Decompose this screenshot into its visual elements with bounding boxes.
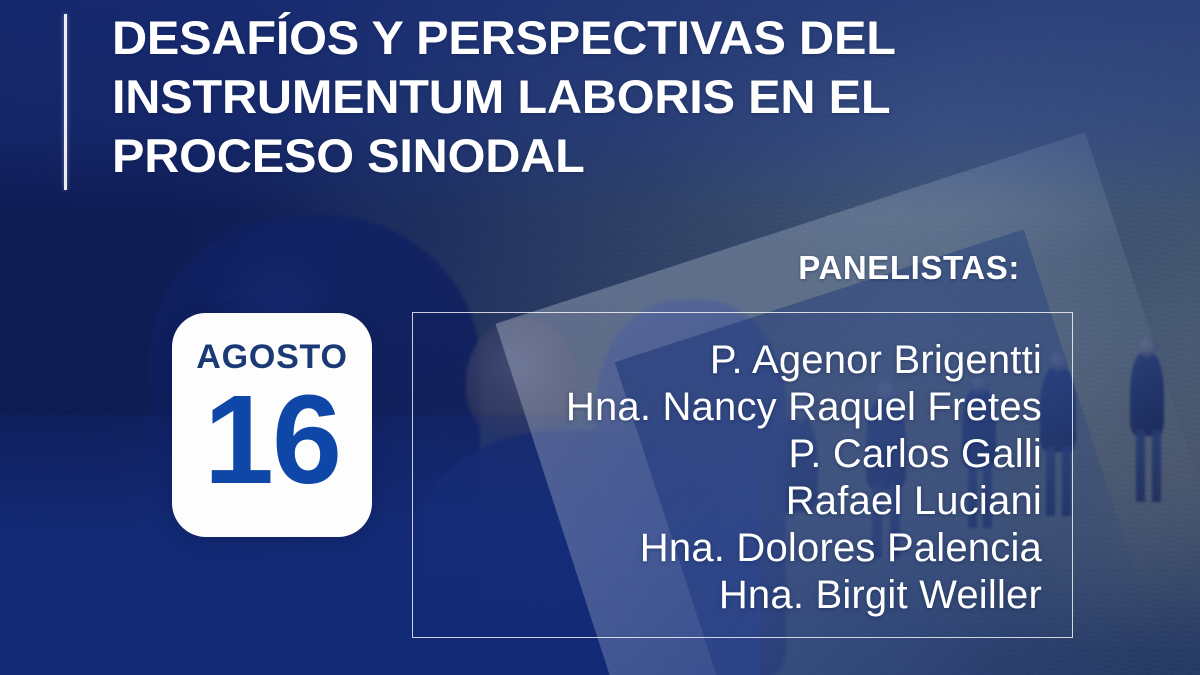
panelists-label: PANELISTAS: bbox=[798, 249, 1020, 287]
event-poster: DESAFÍOS Y PERSPECTIVAS DEL INSTRUMENTUM… bbox=[0, 0, 1200, 675]
panelists-list: P. Agenor Brigentti Hna. Nancy Raquel Fr… bbox=[412, 337, 1042, 619]
title-line-2: INSTRUMENTUM LABORIS EN EL bbox=[112, 67, 1168, 126]
title-line-3: PROCESO SINODAL bbox=[112, 126, 1168, 185]
date-badge-day: 16 bbox=[204, 377, 340, 503]
panelist-name: Hna. Birgit Weiller bbox=[412, 572, 1042, 619]
title-line-1: DESAFÍOS Y PERSPECTIVAS DEL bbox=[112, 8, 1168, 67]
page-title: DESAFÍOS Y PERSPECTIVAS DEL INSTRUMENTUM… bbox=[112, 8, 1168, 185]
poster-content: DESAFÍOS Y PERSPECTIVAS DEL INSTRUMENTUM… bbox=[0, 0, 1200, 675]
title-accent-rule bbox=[64, 14, 67, 190]
panelist-name: Hna. Dolores Palencia bbox=[412, 525, 1042, 572]
panelist-name: Rafael Luciani bbox=[412, 478, 1042, 525]
panelist-name: Hna. Nancy Raquel Fretes bbox=[412, 384, 1042, 431]
panelist-name: P. Carlos Galli bbox=[412, 431, 1042, 478]
panelist-name: P. Agenor Brigentti bbox=[412, 337, 1042, 384]
date-badge: AGOSTO 16 bbox=[172, 313, 372, 537]
